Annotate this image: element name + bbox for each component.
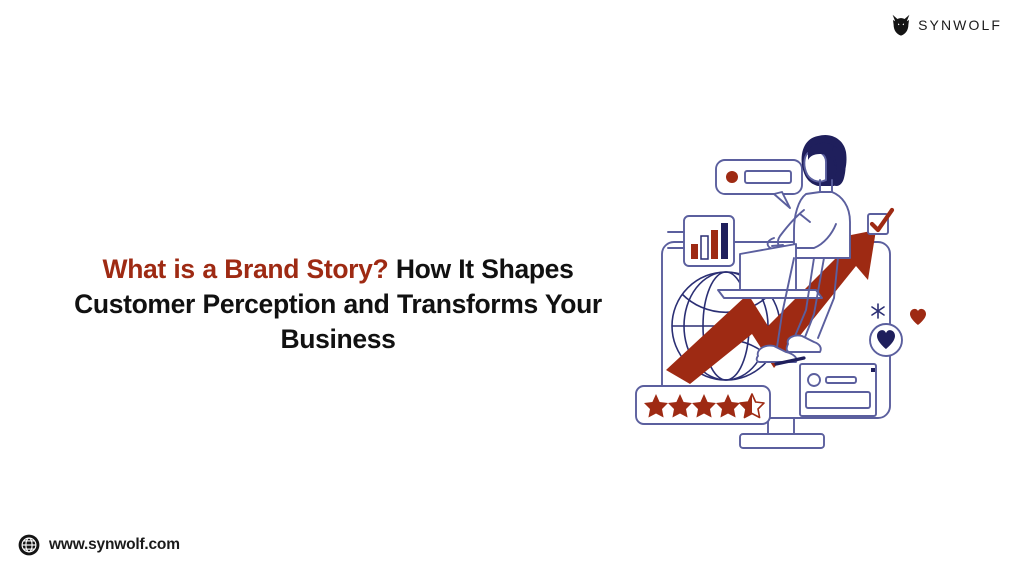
wolf-head-icon [891, 14, 911, 36]
footer-url-text: www.synwolf.com [49, 537, 180, 553]
profile-card-widget [800, 364, 876, 416]
business-growth-illustration: .ln { fill:none; stroke:#5b5f9e; stroke-… [628, 118, 934, 454]
star-rating-badge [636, 386, 770, 424]
checked-checkbox [868, 210, 892, 234]
brand-name: SYNWOLF [918, 18, 1002, 32]
globe-icon [18, 534, 40, 556]
chat-bubble [716, 160, 802, 208]
banner-canvas: SYNWOLF What is a Brand Story? How It Sh… [0, 0, 1024, 576]
brand-logo[interactable]: SYNWOLF [891, 14, 1002, 36]
footer-url[interactable]: www.synwolf.com [18, 534, 180, 556]
headline-block: What is a Brand Story? How It Shapes Cus… [48, 252, 628, 358]
page-title: What is a Brand Story? How It Shapes Cus… [48, 252, 628, 358]
headline-accent: What is a Brand Story? [103, 254, 389, 284]
